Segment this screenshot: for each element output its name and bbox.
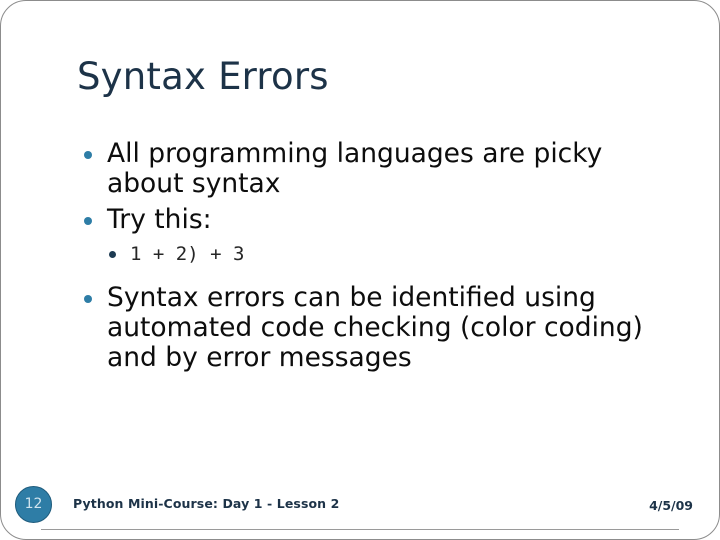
footer-label: Python Mini-Course: Day 1 - Lesson 2 <box>73 496 339 512</box>
list-item-label: All programming languages are picky abou… <box>107 138 602 199</box>
list-item-label: Try this: <box>107 204 212 235</box>
list-item: Syntax errors can be identified using au… <box>77 283 653 373</box>
page-title: Syntax Errors <box>77 55 677 99</box>
slide: Syntax Errors All programming languages … <box>0 0 720 540</box>
bullet-dot-icon <box>109 251 116 258</box>
bullet-dot-icon <box>84 295 92 303</box>
list-item: All programming languages are picky abou… <box>77 139 653 199</box>
footer-date: 4/5/09 <box>649 498 693 514</box>
bullet-dot-icon <box>84 151 92 159</box>
list-item-label: Syntax errors can be identified using au… <box>107 282 643 373</box>
code-snippet: 1 + 2) + 3 <box>130 243 244 265</box>
slide-number-badge: 12 <box>15 486 52 523</box>
code-list-item: 1 + 2) + 3 <box>77 241 653 267</box>
list-item: Try this: <box>77 205 653 235</box>
bullet-dot-icon <box>84 217 92 225</box>
footer-divider <box>41 529 679 530</box>
slide-body: All programming languages are picky abou… <box>77 139 653 379</box>
